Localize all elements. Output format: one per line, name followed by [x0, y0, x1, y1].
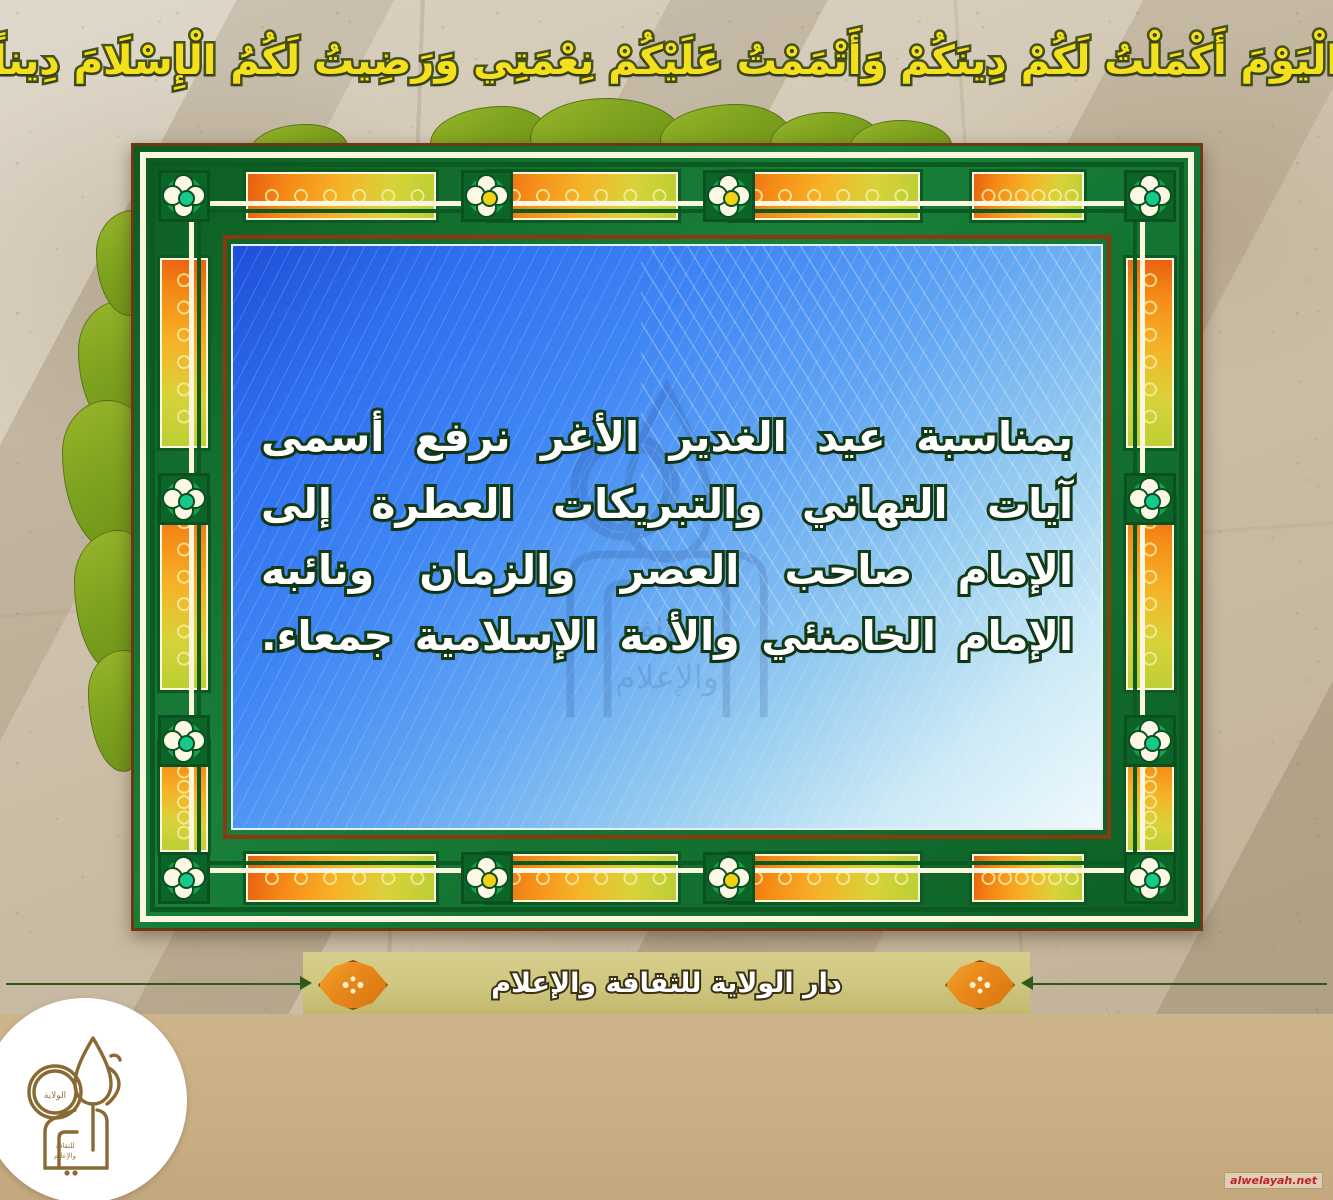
- rosette-medallion: [461, 852, 513, 904]
- rosette-medallion: [158, 170, 210, 222]
- greeting-message-panel: للثقافة والإعلام بمناسبة عيد الغدير الأغ…: [231, 244, 1103, 830]
- organization-ribbon: دار الولاية للثقافة والإعلام: [0, 952, 1333, 1014]
- svg-text:للثقافة: للثقافة: [55, 1142, 74, 1150]
- quran-verse-banner: الْيَوْمَ أَكْمَلْتُ لَكُمْ دِينَكُمْ وَ…: [0, 0, 1333, 122]
- rosette-medallion: [1124, 473, 1176, 525]
- rosette-medallion: [1124, 170, 1176, 222]
- rosette-medallion: [158, 473, 210, 525]
- svg-text:الولاية: الولاية: [43, 1091, 65, 1101]
- greeting-card-poster: الْيَوْمَ أَكْمَلْتُ لَكُمْ دِينَكُمْ وَ…: [0, 0, 1333, 1200]
- site-watermark: alwelayah.net: [1224, 1172, 1323, 1189]
- rosette-medallion: [158, 715, 210, 767]
- svg-text:والإعلام: والإعلام: [53, 1152, 75, 1160]
- organization-name: دار الولاية للثقافة والإعلام: [491, 968, 841, 999]
- ribbon-arrow-left-icon: [300, 976, 312, 990]
- rosette-medallion: [158, 852, 210, 904]
- dar-alwelayah-logo-icon: الولاية للثقافة والإعلام: [15, 1026, 155, 1176]
- rosette-medallion: [461, 170, 513, 222]
- quran-verse-text: الْيَوْمَ أَكْمَلْتُ لَكُمْ دِينَكُمْ وَ…: [0, 40, 1333, 82]
- rosette-medallion: [1124, 852, 1176, 904]
- rosette-medallion: [703, 170, 755, 222]
- contact-footer: [0, 1014, 1333, 1200]
- rosette-medallion: [703, 852, 755, 904]
- greeting-message-text: بمناسبة عيد الغدير الأغر نرفع أسمى آيات …: [255, 404, 1079, 670]
- ribbon-arrow-right-icon: [1021, 976, 1033, 990]
- ribbon-rule-left: [6, 983, 306, 985]
- ribbon-rule-right: [1027, 983, 1327, 985]
- rosette-medallion: [1124, 715, 1176, 767]
- ornate-frame: للثقافة والإعلام بمناسبة عيد الغدير الأغ…: [131, 143, 1203, 931]
